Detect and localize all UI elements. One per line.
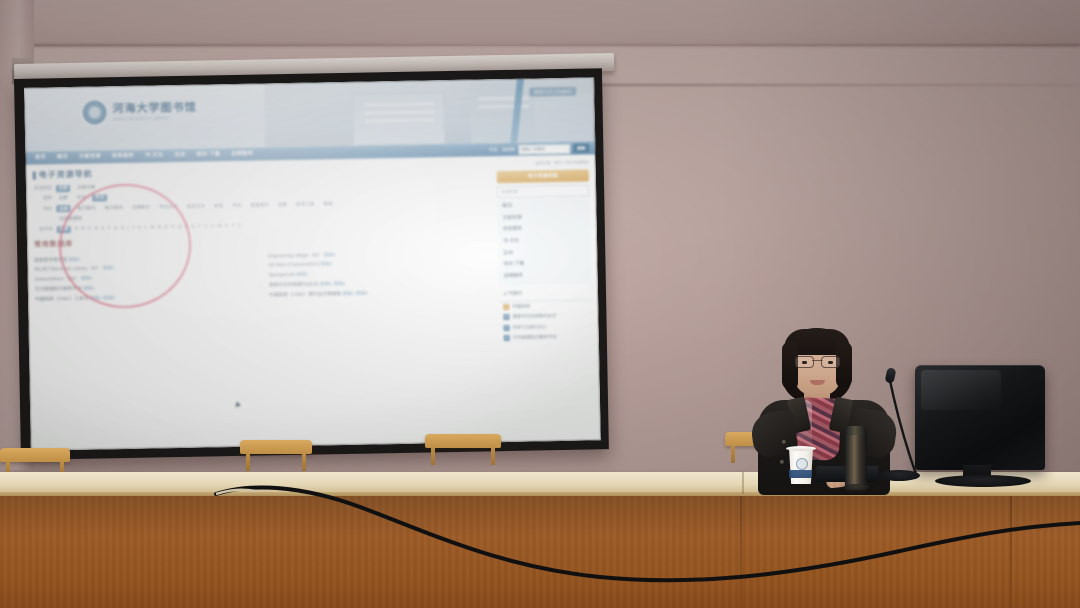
database-link[interactable]: 链接1 — [320, 261, 332, 266]
library-website: 河海大学图书馆 HOHAI UNIVERSITY LIBRARY 校友入口 | … — [24, 77, 601, 450]
logo-title-en: HOHAI UNIVERSITY LIBRARY — [113, 116, 197, 122]
database-name: 中国知网（CNKI）工具书 — [35, 295, 88, 301]
database-link[interactable]: 链接1 — [90, 295, 102, 300]
rank-label: 维普中文科技期刊全文 — [512, 313, 556, 320]
microphone-arm — [872, 370, 932, 482]
search-field-label: 书名: — [489, 147, 499, 153]
database-name: SpringerLink — [269, 272, 295, 277]
database-column-left: 超星数字图书馆 链接1 IEL/IET Electronic Library（E… — [34, 250, 259, 306]
database-name: IEL/IET Electronic Library（EI） — [34, 266, 101, 272]
database-name: 中国知网（CNKI）期刊全文数据库 — [269, 291, 341, 297]
rank-number-badge: 1 — [503, 304, 509, 310]
alpha-c[interactable]: C — [88, 226, 91, 232]
ceiling-edge — [0, 44, 1080, 47]
desk-panel-seam — [1010, 496, 1012, 608]
alpha-s[interactable]: S — [191, 224, 194, 230]
alpha-b[interactable]: B — [81, 226, 84, 232]
monitor-glare — [921, 370, 1001, 410]
filter-label: 首字母 — [34, 226, 53, 233]
database-name: ISI Web of Science(SCI) — [268, 262, 319, 268]
computer-monitor — [915, 365, 1045, 470]
desk-panel-seam — [740, 496, 742, 608]
site-logo[interactable]: 河海大学图书馆 HOHAI UNIVERSITY LIBRARY — [82, 99, 196, 125]
alpha-p[interactable]: P — [171, 224, 174, 230]
database-link[interactable]: 链接2 — [356, 290, 368, 295]
sidebar-primary-button[interactable]: 电子资源导航 — [497, 170, 589, 183]
alpha-k[interactable]: K — [138, 225, 141, 231]
section-accent-bar — [33, 172, 36, 180]
sidebar-item-brand[interactable]: 品牌服务 — [499, 270, 591, 283]
alpha-h[interactable]: H — [121, 225, 124, 231]
database-link[interactable]: 链接1 — [342, 290, 354, 295]
main-column: 电子资源导航 资源类型 全部 文献文摘 语种 全部 中文 外文 — [33, 162, 494, 351]
chair — [425, 434, 501, 468]
database-link[interactable]: 链接1 — [81, 276, 93, 281]
filter-chip[interactable]: 会议论文 — [184, 203, 208, 211]
desk-shadow — [0, 496, 1080, 536]
database-link[interactable]: 链接1 — [68, 256, 80, 261]
search-input[interactable]: 请输入关键词 — [518, 143, 570, 154]
filter-chip[interactable]: 电子图书 — [102, 204, 126, 212]
sidebar-nav-list: 概况 文献资源 信息服务 书·文化 互动 培训·下载 品牌服务 — [497, 198, 591, 285]
rank-list-item[interactable]: 4 万方数据知识服务平台 — [500, 331, 592, 343]
alpha-n[interactable]: N — [158, 224, 161, 230]
lecture-room-photo: 河海大学图书馆 HOHAI UNIVERSITY LIBRARY 校友入口 | … — [0, 0, 1080, 608]
nav-item-interact[interactable]: 互动 — [169, 152, 191, 159]
alpha-l[interactable]: L — [144, 225, 147, 231]
search-scope-select[interactable]: 请选择 — [502, 146, 515, 152]
database-row[interactable]: 万方数据知识服务平台 链接1 — [35, 282, 259, 292]
filter-chip[interactable]: 标准 — [211, 202, 225, 209]
filter-chip[interactable]: 专利 — [230, 202, 244, 209]
filter-chip-selected[interactable]: 全部 — [56, 185, 70, 192]
alpha-q[interactable]: Q — [178, 224, 182, 230]
projector-screen: 河海大学图书馆 HOHAI UNIVERSITY LIBRARY 校友入口 | … — [14, 68, 609, 460]
filter-chip-selected[interactable]: 外文 — [93, 194, 107, 201]
jacket-button — [780, 460, 784, 464]
alpha-d[interactable]: D — [95, 226, 98, 232]
rank-number-badge: 2 — [503, 314, 509, 320]
thermos-flask — [845, 430, 867, 488]
monitor-stand-base — [935, 475, 1031, 487]
filter-chip[interactable]: 成果 — [275, 201, 289, 208]
ceiling — [0, 0, 1080, 46]
university-seal-icon — [82, 100, 106, 124]
database-row[interactable]: 中国知网（CNKI）工具书 链接1 链接2 — [35, 292, 259, 302]
database-link[interactable]: 链接1 — [324, 252, 336, 257]
top-utility-links[interactable]: 校友入口 | English — [529, 87, 576, 97]
chair — [240, 440, 312, 474]
database-row[interactable]: 维普中文科技期刊(全文) 链接1 链接2 — [269, 278, 493, 288]
paper-cup-band — [789, 470, 812, 478]
glasses-icon — [795, 356, 840, 366]
database-name: 维普中文科技期刊(全文) — [269, 281, 319, 287]
filter-chip[interactable]: 其他 — [321, 200, 335, 207]
database-name: ScienceDirect（SD） — [35, 276, 80, 282]
nav-item-culture[interactable]: 书·文化 — [139, 152, 169, 160]
alpha-g[interactable]: G — [114, 225, 118, 231]
alpha-e[interactable]: E — [101, 225, 104, 231]
filter-chip[interactable]: 中文 — [74, 195, 88, 202]
filter-chip[interactable]: 数值事实 — [248, 201, 272, 209]
paper-cup-rim — [786, 446, 816, 451]
database-row[interactable]: 中国知网（CNKI）期刊全文数据库 链接1 链接2 — [269, 288, 493, 298]
page-title: 电子资源导航 — [39, 170, 93, 182]
database-name: 超星数字图书馆 — [34, 257, 67, 263]
database-row[interactable]: ScienceDirect（SD） 链接1 — [35, 273, 259, 283]
alpha-w[interactable]: W — [217, 223, 221, 229]
page-sidebar: 当前位置：首页 > 电子资源导航 电子资源导航 资源检索 概况 文献资源 信息服… — [497, 160, 592, 343]
filter-chip[interactable]: 动态数据库 — [57, 215, 85, 223]
site-search: 书名: 请选择 请输入关键词 搜索 — [489, 143, 596, 155]
page-body: 电子资源导航 资源类型 全部 文献文摘 语种 全部 中文 外文 — [26, 154, 599, 352]
filter-label: 学科 — [33, 206, 52, 213]
alpha-o[interactable]: O — [164, 224, 168, 230]
filter-chip[interactable]: 全部 — [56, 195, 70, 202]
alpha-i[interactable]: I — [128, 225, 129, 231]
filter-chip[interactable]: 参考工具 — [293, 201, 317, 209]
thermos-cap — [846, 426, 866, 435]
database-row[interactable]: SpringerLink 链接1 — [269, 268, 493, 278]
microphone-base — [878, 470, 920, 481]
breadcrumb: 当前位置：首页 > 电子资源导航 — [497, 160, 589, 167]
database-link[interactable]: 链接2 — [103, 295, 115, 300]
filter-chip-selected[interactable]: 全部 — [57, 226, 71, 233]
database-column-right: Engineering Village（EI） 链接1 ISI Web of S… — [268, 245, 493, 301]
rank-number-badge: 3 — [504, 325, 510, 331]
database-row[interactable]: ISI Web of Science(SCI) 链接1 — [268, 259, 492, 269]
database-row[interactable]: 超星数字图书馆 链接1 — [34, 253, 258, 263]
database-row[interactable]: IEL/IET Electronic Library（EI） 链接1 — [34, 263, 258, 273]
database-link[interactable]: 链接1 — [83, 285, 95, 290]
alpha-t[interactable]: T — [198, 224, 201, 230]
database-link[interactable]: 链接1 — [103, 265, 115, 270]
nav-item-brand[interactable]: 品牌服务 — [226, 151, 259, 159]
projection-surface: 河海大学图书馆 HOHAI UNIVERSITY LIBRARY 校友入口 | … — [24, 77, 601, 450]
database-link[interactable]: 链接1 — [296, 272, 308, 277]
alpha-r[interactable]: R — [185, 224, 188, 230]
rank-number-badge: 4 — [504, 335, 510, 341]
filter-chip[interactable]: 学位论文 — [157, 203, 181, 211]
wall-seam — [595, 84, 1080, 86]
nav-item-services[interactable]: 信息服务 — [106, 153, 139, 161]
alpha-z[interactable]: Z — [238, 223, 241, 229]
rank-label: 中国知网 — [512, 303, 530, 309]
jacket-button — [782, 440, 786, 444]
nav-item-overview[interactable]: 概况 — [51, 154, 73, 161]
logo-title-cn: 河海大学图书馆 — [112, 101, 196, 117]
search-button[interactable]: 搜索 — [573, 144, 590, 153]
filter-label: 资源类型 — [33, 186, 52, 193]
alpha-u[interactable]: U — [204, 224, 207, 230]
database-row[interactable]: Engineering Village（EI） 链接1 — [268, 249, 492, 259]
rank-label: 万方数据知识服务平台 — [513, 334, 557, 341]
filter-chip-selected[interactable]: 全部 — [56, 205, 70, 212]
alpha-a[interactable]: A — [75, 226, 78, 232]
nav-item-home[interactable]: 首页 — [29, 154, 51, 161]
alpha-m[interactable]: M — [150, 225, 154, 231]
alphabet-filter: A B C D E F G H I J K L — [75, 223, 241, 232]
database-name: 万方数据知识服务平台 — [35, 286, 82, 292]
site-banner: 河海大学图书馆 HOHAI UNIVERSITY LIBRARY 校友入口 | … — [24, 77, 595, 151]
nav-item-resources[interactable]: 文献资源 — [73, 153, 106, 161]
thermos-base — [843, 484, 869, 491]
database-name: Engineering Village（EI） — [268, 252, 322, 258]
alpha-y[interactable]: Y — [232, 223, 235, 229]
paper-cup-logo — [796, 458, 808, 470]
filter-label: 语种 — [33, 196, 52, 203]
rank-label: 科学引文索引SCI — [513, 324, 547, 331]
filter-chip[interactable]: 电子期刊 — [75, 205, 99, 213]
alpha-j[interactable]: J — [132, 225, 134, 231]
alpha-v[interactable]: V — [211, 223, 214, 229]
database-list: 超星数字图书馆 链接1 IEL/IET Electronic Library（E… — [34, 245, 493, 305]
database-link[interactable]: 链接1 — [320, 281, 332, 286]
database-link[interactable]: 链接2 — [333, 281, 345, 286]
alpha-f[interactable]: F — [108, 225, 111, 231]
monitor-panel — [915, 365, 1045, 470]
sidebar-search-input[interactable]: 资源检索 — [497, 184, 589, 197]
nav-item-training[interactable]: 培训·下载 — [191, 151, 226, 159]
filter-chip[interactable]: 文摘索引 — [129, 204, 153, 212]
filter-chip[interactable]: 文献文摘 — [74, 184, 98, 192]
alpha-x[interactable]: X — [225, 223, 228, 229]
